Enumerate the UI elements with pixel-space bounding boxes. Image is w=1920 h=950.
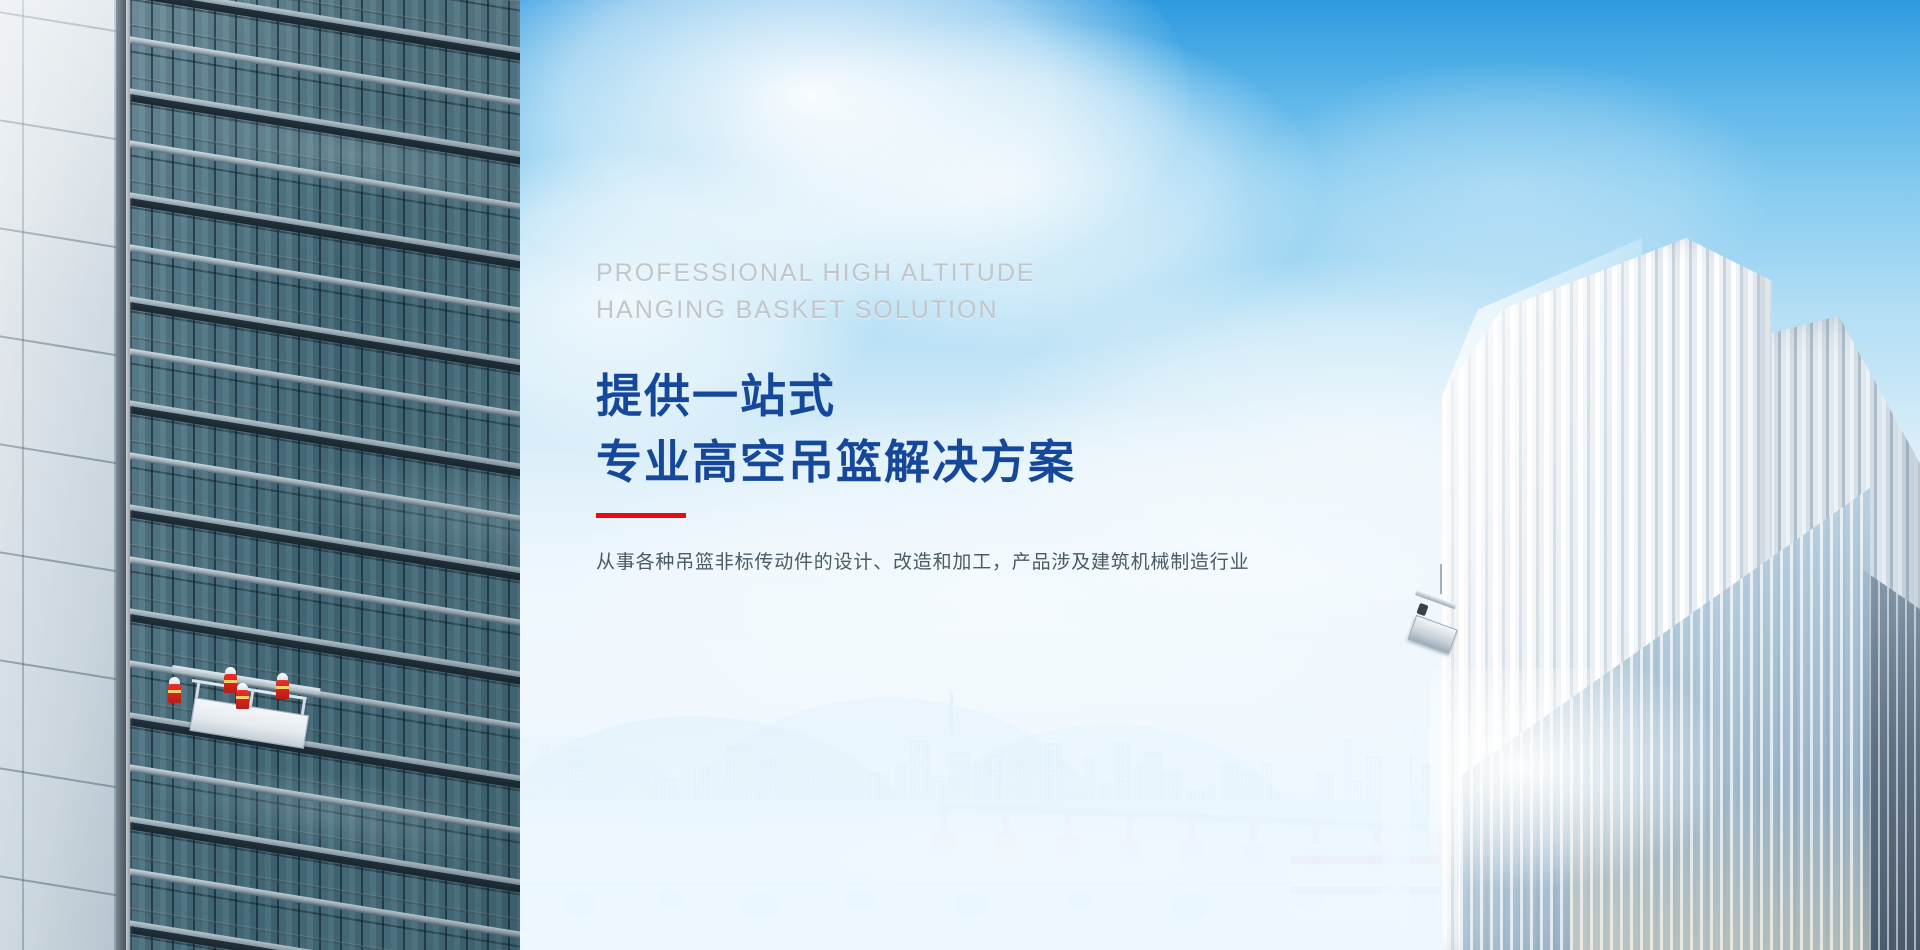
- eyebrow-heading: PROFESSIONAL HIGH ALTITUDE HANGING BASKE…: [596, 255, 1396, 329]
- edge-highlight: [126, 0, 132, 950]
- hero-banner: PROFESSIONAL HIGH ALTITUDE HANGING BASKE…: [0, 0, 1920, 950]
- worker: [168, 677, 181, 703]
- pier-reflection: [933, 830, 955, 864]
- bridge-pier: [1312, 825, 1319, 844]
- curtain-wall-face: [0, 0, 520, 950]
- pier-reflection: [1181, 841, 1203, 871]
- safety-vest-stripe: [276, 686, 289, 689]
- pier-reflection: [1057, 836, 1079, 868]
- safety-vest-stripe: [168, 690, 181, 693]
- worker-uniform: [276, 680, 289, 699]
- pier-reflection: [1243, 844, 1265, 873]
- pier-reflection: [1119, 838, 1141, 869]
- worker: [276, 673, 289, 699]
- bridge-pier: [1250, 822, 1257, 842]
- worker: [236, 683, 249, 709]
- worker-uniform: [236, 690, 249, 709]
- bridge-pier: [1188, 819, 1195, 840]
- bridge-pier: [1126, 816, 1133, 838]
- work-platform: [1408, 615, 1458, 654]
- suspension-cable: [1440, 564, 1442, 594]
- right-fin-skyscraper: [1390, 238, 1920, 950]
- hero-copy-block: PROFESSIONAL HIGH ALTITUDE HANGING BASKE…: [596, 255, 1396, 578]
- bridge-pier: [1374, 828, 1381, 846]
- worker-uniform: [168, 684, 181, 703]
- bridge-pier: [1064, 814, 1071, 838]
- subtitle-text: 从事各种吊篮非标传动件的设计、改造和加工，产品涉及建筑机械制造行业: [596, 548, 1396, 578]
- worker: [1416, 603, 1428, 616]
- gondola-left: [172, 645, 322, 740]
- floor-band-group: [130, 0, 520, 950]
- metal-panel-column: [0, 0, 118, 950]
- page-title: 提供一站式 专业高空吊篮解决方案: [596, 363, 1396, 495]
- gondola-right: [1410, 590, 1464, 662]
- accent-rule: [596, 513, 686, 518]
- pier-reflection: [995, 833, 1017, 866]
- left-glass-tower: [0, 0, 520, 950]
- safety-vest-stripe: [236, 696, 249, 699]
- tower-massing: [1390, 238, 1920, 950]
